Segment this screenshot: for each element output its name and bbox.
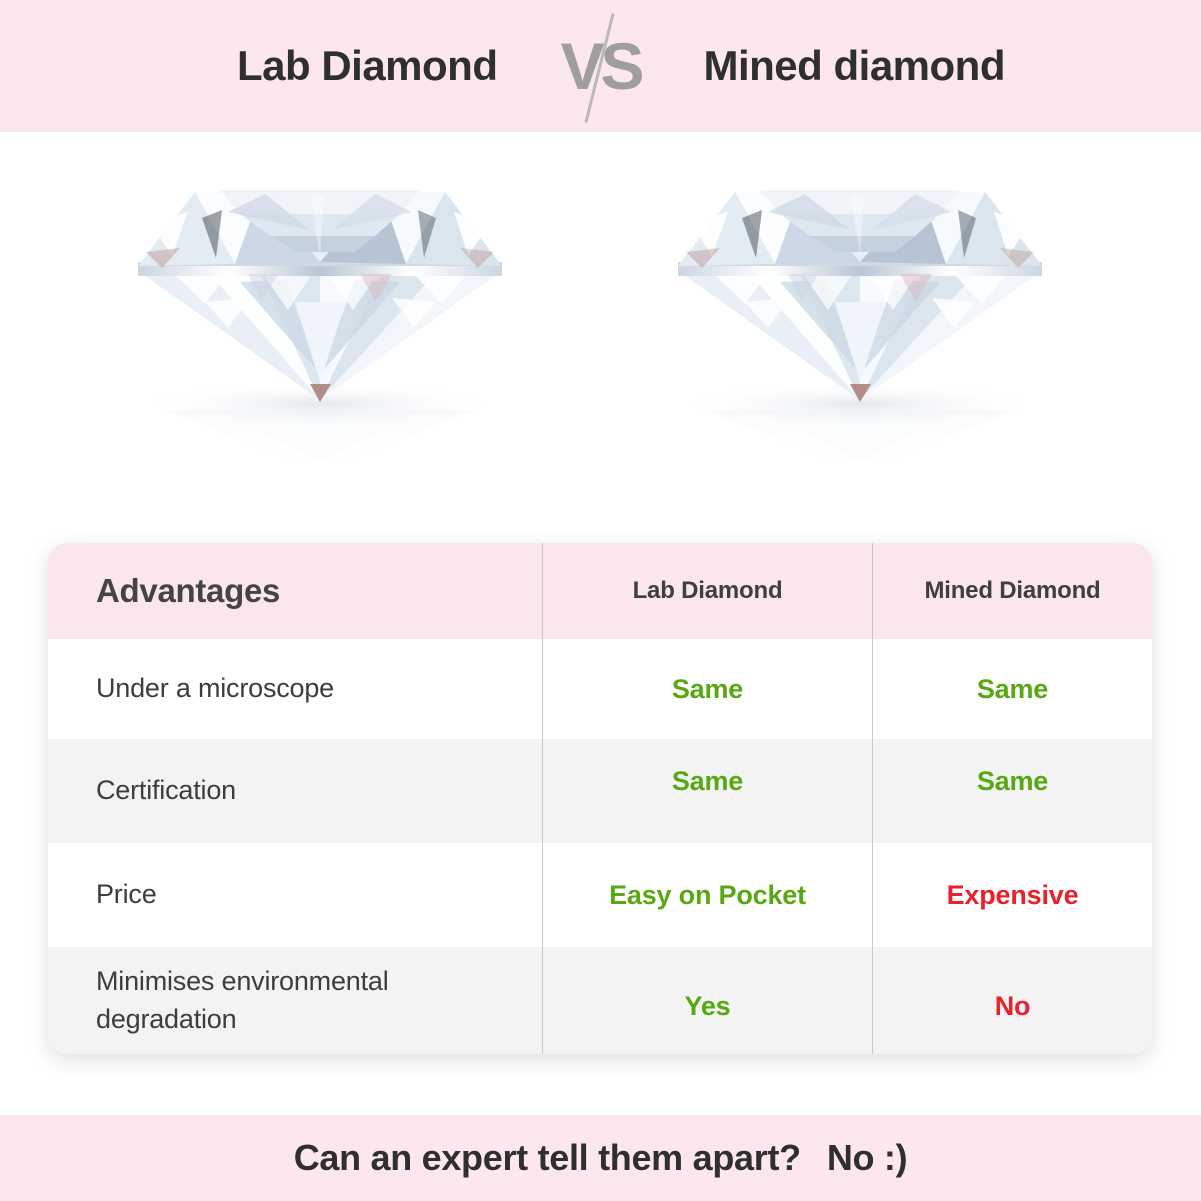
- row-label-cell: Certification: [48, 739, 542, 843]
- row-label: Price: [96, 876, 157, 913]
- table-header-advantages-label: Advantages: [96, 572, 280, 610]
- table-row: Certification Same Same: [48, 739, 1152, 843]
- row-mined-value-cell: No: [872, 947, 1152, 1054]
- table-header-lab-diamond-label: Lab Diamond: [633, 577, 783, 605]
- footer-answer: No :): [827, 1137, 907, 1179]
- row-mined-value: Expensive: [947, 880, 1079, 911]
- diamond-illustration: [650, 152, 1070, 512]
- row-mined-value: Same: [977, 766, 1048, 797]
- diamond-image-mined: [650, 152, 1070, 512]
- vs-badge: VS: [546, 6, 656, 126]
- row-lab-value: Easy on Pocket: [609, 880, 806, 911]
- table-row: Price Easy on Pocket Expensive: [48, 843, 1152, 947]
- row-mined-value: Same: [977, 674, 1048, 705]
- row-lab-value-cell: Same: [542, 639, 872, 739]
- table-header-row: Advantages Lab Diamond Mined Diamond: [48, 543, 1152, 639]
- row-label-cell: Price: [48, 843, 542, 947]
- diamond-image-lab: [110, 152, 530, 512]
- table-row: Minimises environmental degradation Yes …: [48, 947, 1152, 1054]
- row-mined-value-cell: Same: [872, 639, 1152, 739]
- table-row: Under a microscope Same Same: [48, 639, 1152, 739]
- table-header-advantages: Advantages: [48, 543, 542, 639]
- row-lab-value-cell: Yes: [542, 947, 872, 1054]
- row-label-cell: Minimises environmental degradation: [48, 947, 542, 1054]
- row-lab-value: Yes: [685, 991, 731, 1022]
- row-label: Minimises environmental degradation: [96, 963, 522, 1038]
- table-header-lab-diamond: Lab Diamond: [542, 543, 872, 639]
- row-mined-value-cell: Expensive: [872, 843, 1152, 947]
- row-label-cell: Under a microscope: [48, 639, 542, 739]
- row-label: Certification: [96, 772, 236, 809]
- row-lab-value: Same: [672, 766, 743, 797]
- page-title-mined-diamond: Mined diamond: [656, 42, 1134, 90]
- comparison-table-card: Advantages Lab Diamond Mined Diamond Und…: [48, 543, 1152, 1054]
- table-header-mined-diamond: Mined Diamond: [872, 543, 1152, 639]
- diamond-illustration: [110, 152, 530, 512]
- row-lab-value-cell: Same: [542, 739, 872, 843]
- table-header-mined-diamond-label: Mined Diamond: [924, 577, 1100, 605]
- row-mined-value-cell: Same: [872, 739, 1152, 843]
- page-title-lab-diamond: Lab Diamond: [68, 42, 546, 90]
- footer-question: Can an expert tell them apart?: [294, 1137, 801, 1179]
- row-lab-value: Same: [672, 674, 743, 705]
- row-lab-value-cell: Easy on Pocket: [542, 843, 872, 947]
- row-label: Under a microscope: [96, 670, 334, 707]
- diamond-hero-section: [0, 132, 1201, 522]
- top-banner: Lab Diamond VS Mined diamond: [0, 0, 1201, 132]
- row-mined-value: No: [995, 991, 1031, 1022]
- bottom-banner: Can an expert tell them apart? No :): [0, 1115, 1201, 1201]
